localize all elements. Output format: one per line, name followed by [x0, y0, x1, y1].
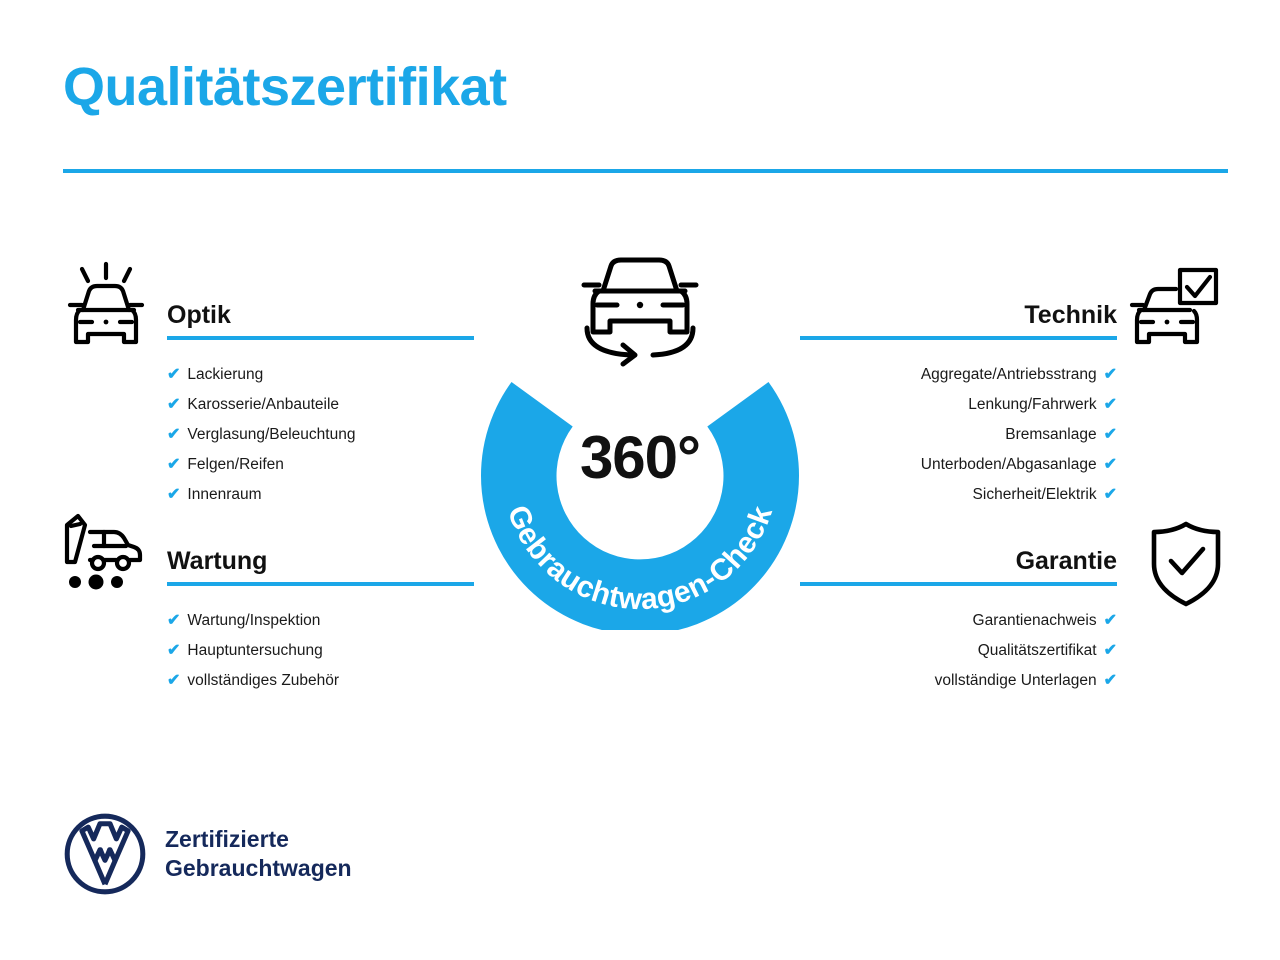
list-item: ✔Hauptuntersuchung	[167, 636, 474, 666]
list-item-label: Karosserie/Anbauteile	[187, 390, 339, 420]
list-item-label: Wartung/Inspektion	[187, 606, 320, 636]
section-garantie: Garantie ✔Garantienachweis ✔Qualitätszer…	[800, 546, 1117, 696]
section-technik: Technik ✔Aggregate/Antriebsstrang ✔Lenku…	[800, 300, 1117, 510]
list-item: ✔Karosserie/Anbauteile	[167, 390, 474, 420]
check-icon: ✔	[167, 367, 180, 383]
section-optik: Optik ✔Lackierung ✔Karosserie/Anbauteile…	[167, 300, 474, 510]
section-title-garantie: Garantie	[800, 546, 1117, 576]
badge-center-label: 360°	[455, 428, 825, 488]
section-list-wartung: ✔Wartung/Inspektion ✔Hauptuntersuchung ✔…	[167, 606, 474, 696]
list-item: ✔Aggregate/Antriebsstrang	[800, 360, 1117, 390]
car-shine-icon	[58, 258, 154, 354]
list-item-label: Bremsanlage	[1005, 420, 1096, 450]
check-icon: ✔	[1104, 427, 1117, 443]
list-item: ✔Unterboden/Abgasanlage	[800, 450, 1117, 480]
list-item: ✔Verglasung/Beleuchtung	[167, 420, 474, 450]
section-list-optik: ✔Lackierung ✔Karosserie/Anbauteile ✔Verg…	[167, 360, 474, 510]
list-item-label: vollständiges Zubehör	[187, 666, 339, 696]
list-item: ✔Bremsanlage	[800, 420, 1117, 450]
list-item-label: vollständige Unterlagen	[935, 666, 1097, 696]
list-item-label: Sicherheit/Elektrik	[973, 480, 1097, 510]
list-item-label: Innenraum	[187, 480, 261, 510]
list-item: ✔Innenraum	[167, 480, 474, 510]
check-icon: ✔	[167, 487, 180, 503]
gebrauchtwagen-check-badge: Gebrauchtwagen-Check 360°	[455, 250, 825, 630]
check-icon: ✔	[1104, 613, 1117, 629]
car-checkbox-icon	[1128, 258, 1224, 354]
check-icon: ✔	[1104, 673, 1117, 689]
check-icon: ✔	[167, 673, 180, 689]
section-title-technik: Technik	[800, 300, 1117, 330]
check-icon: ✔	[1104, 367, 1117, 383]
list-item: ✔Sicherheit/Elektrik	[800, 480, 1117, 510]
list-item: ✔Qualitätszertifikat	[800, 636, 1117, 666]
car-rotation-icon	[565, 250, 715, 370]
list-item-label: Garantienachweis	[973, 606, 1097, 636]
list-item-label: Felgen/Reifen	[187, 450, 284, 480]
check-icon: ✔	[1104, 487, 1117, 503]
list-item: ✔vollständige Unterlagen	[800, 666, 1117, 696]
page-title: Qualitätszertifikat	[63, 58, 507, 117]
list-item: ✔Wartung/Inspektion	[167, 606, 474, 636]
footer-line-2: Gebrauchtwagen	[165, 854, 352, 883]
check-icon: ✔	[167, 643, 180, 659]
list-item-label: Lenkung/Fahrwerk	[968, 390, 1096, 420]
footer-branding: Zertifizierte Gebrauchtwagen	[63, 812, 352, 896]
section-list-garantie: ✔Garantienachweis ✔Qualitätszertifikat ✔…	[800, 606, 1117, 696]
list-item-label: Aggregate/Antriebsstrang	[921, 360, 1097, 390]
section-list-technik: ✔Aggregate/Antriebsstrang ✔Lenkung/Fahrw…	[800, 360, 1117, 510]
list-item: ✔Lenkung/Fahrwerk	[800, 390, 1117, 420]
section-wartung: Wartung ✔Wartung/Inspektion ✔Hauptunters…	[167, 546, 474, 696]
check-icon: ✔	[167, 613, 180, 629]
section-divider-garantie	[800, 582, 1117, 586]
check-icon: ✔	[167, 457, 180, 473]
section-divider-technik	[800, 336, 1117, 340]
check-icon: ✔	[167, 427, 180, 443]
section-title-optik: Optik	[167, 300, 474, 330]
list-item: ✔Felgen/Reifen	[167, 450, 474, 480]
list-item: ✔Garantienachweis	[800, 606, 1117, 636]
footer-text: Zertifizierte Gebrauchtwagen	[165, 825, 352, 883]
section-divider-optik	[167, 336, 474, 340]
section-title-wartung: Wartung	[167, 546, 474, 576]
list-item-label: Qualitätszertifikat	[978, 636, 1097, 666]
shield-check-icon	[1138, 516, 1234, 612]
check-icon: ✔	[1104, 643, 1117, 659]
list-item: ✔vollständiges Zubehör	[167, 666, 474, 696]
header-divider	[63, 169, 1228, 173]
list-item-label: Hauptuntersuchung	[187, 636, 322, 666]
list-item: ✔Lackierung	[167, 360, 474, 390]
check-icon: ✔	[167, 397, 180, 413]
vw-logo	[63, 812, 147, 896]
footer-line-1: Zertifizierte	[165, 825, 352, 854]
section-divider-wartung	[167, 582, 474, 586]
car-service-tool-icon	[58, 508, 154, 604]
check-icon: ✔	[1104, 457, 1117, 473]
list-item-label: Verglasung/Beleuchtung	[187, 420, 355, 450]
check-icon: ✔	[1104, 397, 1117, 413]
list-item-label: Lackierung	[187, 360, 263, 390]
list-item-label: Unterboden/Abgasanlage	[921, 450, 1097, 480]
